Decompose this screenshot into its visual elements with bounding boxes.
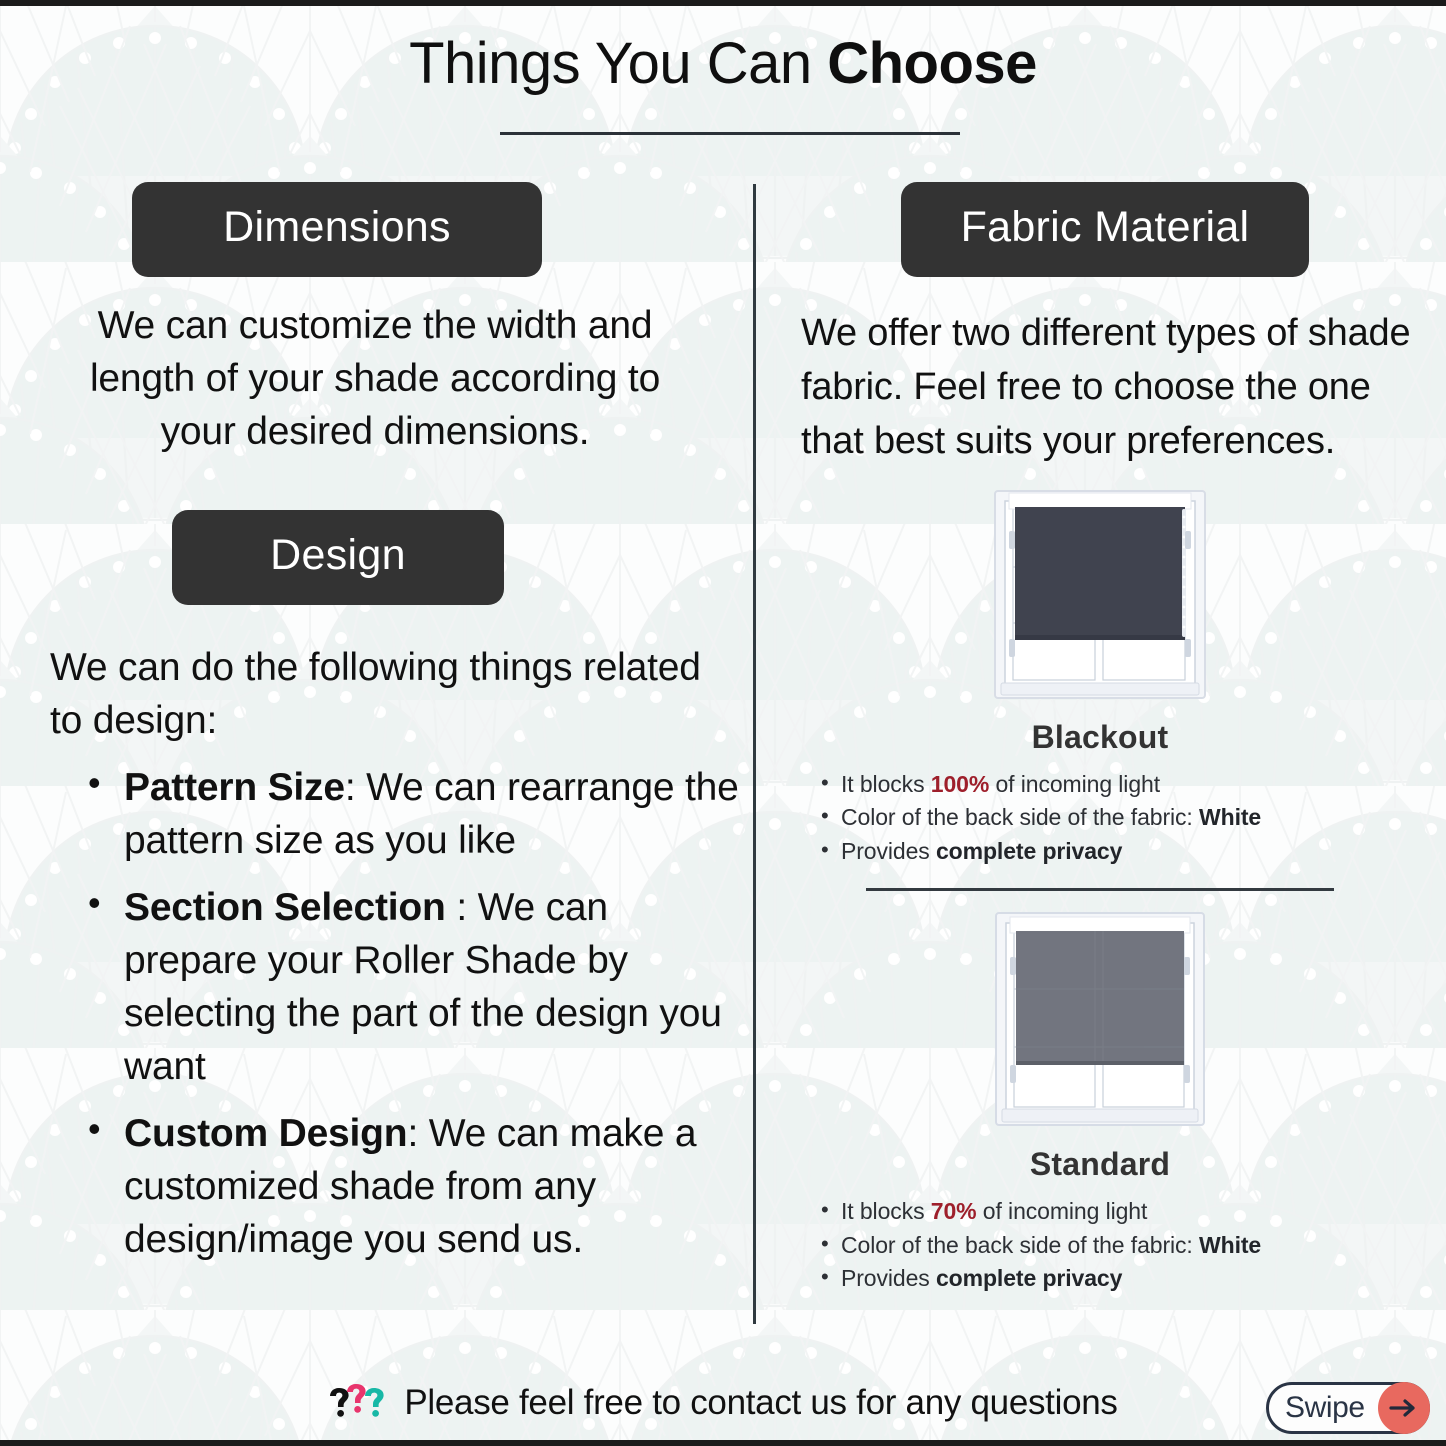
spec-pre: It blocks	[841, 771, 931, 797]
standard-title: Standard	[775, 1146, 1425, 1183]
bullet-label: Pattern Size	[124, 766, 345, 809]
footer: Please feel free to contact us for any q…	[0, 1378, 1446, 1426]
title-underline	[500, 132, 960, 135]
left-column: Dimensions We can customize the width an…	[10, 182, 740, 1266]
spec-pre: Provides	[841, 838, 936, 864]
bullet-label: Section Selection	[124, 886, 446, 929]
page-title-bold: Choose	[827, 31, 1037, 96]
fabric-description: We offer two different types of shade fa…	[801, 307, 1425, 469]
right-column: Fabric Material We offer two different t…	[775, 182, 1425, 1293]
fabric-standard-block: Standard It blocks 70% of incoming light…	[775, 909, 1425, 1293]
list-item: Section Selection : We can prepare your …	[88, 881, 740, 1093]
spec-percent: 100%	[931, 771, 989, 797]
standard-spec-list: It blocks 70% of incoming light Color of…	[819, 1197, 1425, 1293]
swipe-button[interactable]: Swipe	[1266, 1382, 1430, 1434]
spec-post: of incoming light	[977, 1198, 1148, 1224]
spec-pre: Provides	[841, 1265, 936, 1291]
blackout-title: Blackout	[775, 719, 1425, 756]
spec-pre: Color of the back side of the fabric:	[841, 804, 1199, 830]
dimensions-badge[interactable]: Dimensions	[132, 182, 542, 277]
spec-bold: complete privacy	[936, 1265, 1122, 1291]
spec-bold: complete privacy	[936, 838, 1122, 864]
fabric-material-badge[interactable]: Fabric Material	[901, 182, 1309, 277]
list-item: Pattern Size: We can rearrange the patte…	[88, 761, 740, 867]
spec-pre: Color of the back side of the fabric:	[841, 1232, 1199, 1258]
spec-bold: White	[1199, 1232, 1261, 1258]
blackout-spec-list: It blocks 100% of incoming light Color o…	[819, 770, 1425, 866]
column-divider	[753, 184, 756, 1324]
spec-pre: It blocks	[841, 1198, 931, 1224]
spec-percent: 70%	[931, 1198, 977, 1224]
page-title-normal: Things You Can	[409, 31, 827, 96]
list-item: Custom Design: We can make a customized …	[88, 1107, 740, 1266]
swipe-arrow-circle[interactable]	[1378, 1382, 1430, 1434]
arrow-right-icon	[1389, 1397, 1419, 1419]
design-bullet-list: Pattern Size: We can rearrange the patte…	[88, 761, 740, 1266]
page-title: Things You Can Choose	[0, 32, 1446, 96]
list-item: It blocks 70% of incoming light	[819, 1197, 1425, 1226]
dimensions-description: We can customize the width and length of…	[72, 299, 678, 458]
list-item: It blocks 100% of incoming light	[819, 770, 1425, 799]
spec-bold: White	[1199, 804, 1261, 830]
design-intro-text: We can do the following things related t…	[50, 641, 740, 747]
contact-text: Please feel free to contact us for any q…	[404, 1385, 1117, 1420]
blackout-window-image	[993, 487, 1207, 702]
swipe-label: Swipe	[1285, 1391, 1365, 1425]
list-item: Color of the back side of the fabric: Wh…	[819, 1231, 1425, 1260]
question-marks-icon	[328, 1378, 390, 1426]
design-badge[interactable]: Design	[172, 510, 504, 605]
spec-post: of incoming light	[989, 771, 1160, 797]
list-item: Provides complete privacy	[819, 1264, 1425, 1293]
infographic-page: Things You Can Choose Dimensions We can …	[0, 0, 1446, 1446]
fabric-section-divider	[866, 888, 1334, 891]
standard-window-image	[994, 909, 1206, 1129]
list-item: Provides complete privacy	[819, 837, 1425, 866]
list-item: Color of the back side of the fabric: Wh…	[819, 803, 1425, 832]
bullet-label: Custom Design	[124, 1112, 407, 1155]
fabric-blackout-block: Blackout It blocks 100% of incoming ligh…	[775, 487, 1425, 866]
